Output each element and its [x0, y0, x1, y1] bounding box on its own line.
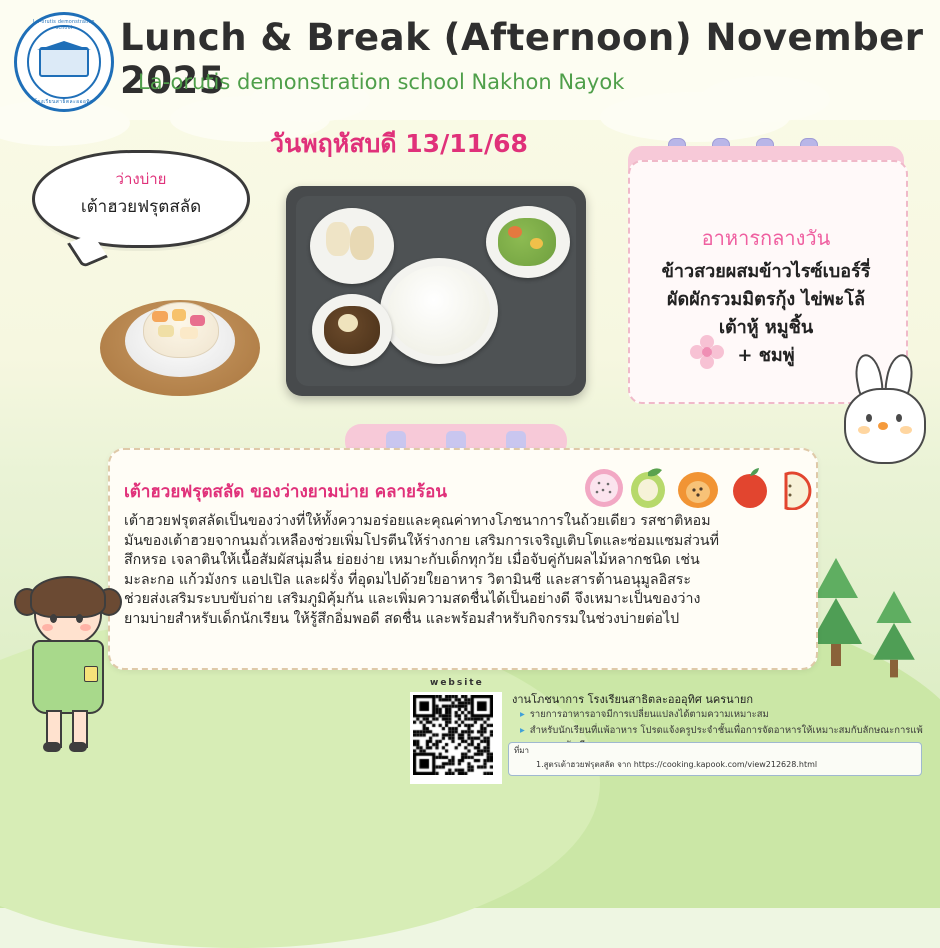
girl-badge	[84, 666, 98, 682]
dish-palo	[312, 294, 392, 366]
article-title: เต้าฮวยฟรุตสลัด ของว่างยามบ่าย คลายร้อน	[124, 478, 447, 505]
stirfry-vegetables	[498, 218, 556, 266]
palo-egg	[338, 314, 358, 332]
dish-fruit	[310, 208, 394, 284]
snack-label: ว่างบ่าย	[35, 167, 247, 191]
papaya-icon	[678, 472, 718, 508]
footer-org: งานโภชนาการ โรงเรียนสาธิตละอออุทิศ นครนา…	[512, 690, 753, 708]
dessert-bowl	[143, 302, 219, 358]
article-line-4: มะละกอ แก้วมังกร แอปเปิล และฝรั่ง ที่อุด…	[124, 571, 804, 591]
fruit-mango	[172, 309, 186, 321]
date-heading: วันพฤหัสบดี 13/11/68	[270, 124, 528, 164]
fruit-papaya	[152, 311, 168, 322]
bunny-cheek-left	[858, 426, 870, 434]
lunch-menu-line-3: เต้าหู้ หมูชิ้น	[628, 312, 904, 341]
article-line-3: สึกหรอ เจลาตินให้เนื้อสัมผัสนุ่มลื่น ย่อ…	[124, 551, 804, 571]
fruit-piece-2	[350, 226, 374, 260]
school-logo: La-orutis demonstration school โรงเรียนส…	[14, 12, 114, 112]
girl-hair	[30, 576, 106, 618]
article-line-6: ยามบ่ายสำหรับเด็กนักเรียน ให้รู้สึกอิ่มพ…	[124, 610, 804, 630]
source-text: 1.สูตรเต้าฮวยฟรุตสลัด จาก https://cookin…	[536, 758, 817, 771]
rice-portion	[388, 266, 490, 356]
lunch-tray-photo	[286, 186, 586, 396]
guava-icon	[631, 468, 665, 508]
fruit-guava	[158, 325, 174, 337]
bullet-marker-1: ▸	[520, 709, 525, 720]
footer-bullet-1-text: รายการอาหารอาจมีการเปลี่ยนแปลงได้ตามความ…	[530, 709, 769, 720]
girl-mascot	[8, 570, 128, 760]
girl-cheek-right	[80, 624, 91, 631]
lunch-menu-line-2: ผัดผักรวมมิตรกุ้ง ไข่พะโล้	[628, 284, 904, 313]
fruit-dragonfruit	[190, 315, 205, 326]
website-label: website	[430, 678, 484, 688]
qr-code[interactable]	[410, 692, 502, 784]
fruit-icons-row	[580, 466, 820, 510]
stirfry-carrot	[508, 226, 522, 238]
footer-bullet-1: ▸รายการอาหารอาจมีการเปลี่ยนแปลงได้ตามควา…	[520, 707, 769, 722]
bunny-mascot	[838, 352, 930, 462]
tray-inner	[296, 196, 576, 386]
bunny-eye-left	[866, 414, 872, 422]
dish-stirfry	[486, 206, 570, 278]
girl-shoe-left	[43, 742, 61, 752]
article-body: เต้าฮวยฟรุตสลัดเป็นของว่างที่ให้ทั้งความ…	[124, 512, 804, 630]
apple-slice-icon	[786, 473, 810, 509]
snack-item: เต้าฮวยฟรุตสลัด	[35, 193, 247, 220]
lunch-menu-line-1: ข้าวสวยผสมข้าวไรซ์เบอร์รี่	[628, 256, 904, 285]
fruit-piece-1	[326, 222, 350, 256]
girl-eye-right	[76, 614, 83, 623]
logo-top-text: La-orutis demonstration school	[29, 19, 99, 31]
dragonfruit-icon	[585, 469, 623, 507]
bunny-cheek-right	[900, 426, 912, 434]
snack-speech-bubble: ว่างบ่าย เต้าฮวยฟรุตสลัด	[32, 150, 250, 248]
article-line-1: เต้าฮวยฟรุตสลัดเป็นของว่างที่ให้ทั้งความ…	[124, 512, 804, 532]
bunny-eye-right	[896, 414, 902, 422]
fruit-tofu-pudding	[180, 327, 198, 339]
girl-cheek-left	[42, 624, 53, 631]
tree-2	[873, 609, 915, 678]
article-line-5: ช่วยส่งเสริมระบบขับถ่าย เสริมภูมิคุ้มกัน…	[124, 590, 804, 610]
flower-icon	[690, 335, 724, 369]
girl-shoe-right	[69, 742, 87, 752]
apple-icon	[733, 468, 767, 508]
girl-eye-left	[50, 614, 57, 623]
article-line-2: มันของเต้าฮวยจากนมถั่วเหลืองช่วยเพิ่มโปร…	[124, 532, 804, 552]
page-subtitle: La-orutis demonstration school Nakhon Na…	[138, 70, 624, 94]
logo-inner: La-orutis demonstration school โรงเรียนส…	[27, 25, 101, 99]
lunch-menu-title: อาหารกลางวัน	[628, 222, 904, 254]
bullet-marker-2: ▸	[520, 725, 525, 736]
stirfry-pepper	[530, 238, 543, 249]
logo-bottom-text: โรงเรียนสาธิตละอออุทิศ	[29, 98, 99, 106]
dish-rice	[380, 258, 498, 364]
logo-building-icon	[39, 47, 89, 77]
bunny-nose	[878, 422, 888, 430]
source-label: ที่มา	[514, 744, 529, 757]
